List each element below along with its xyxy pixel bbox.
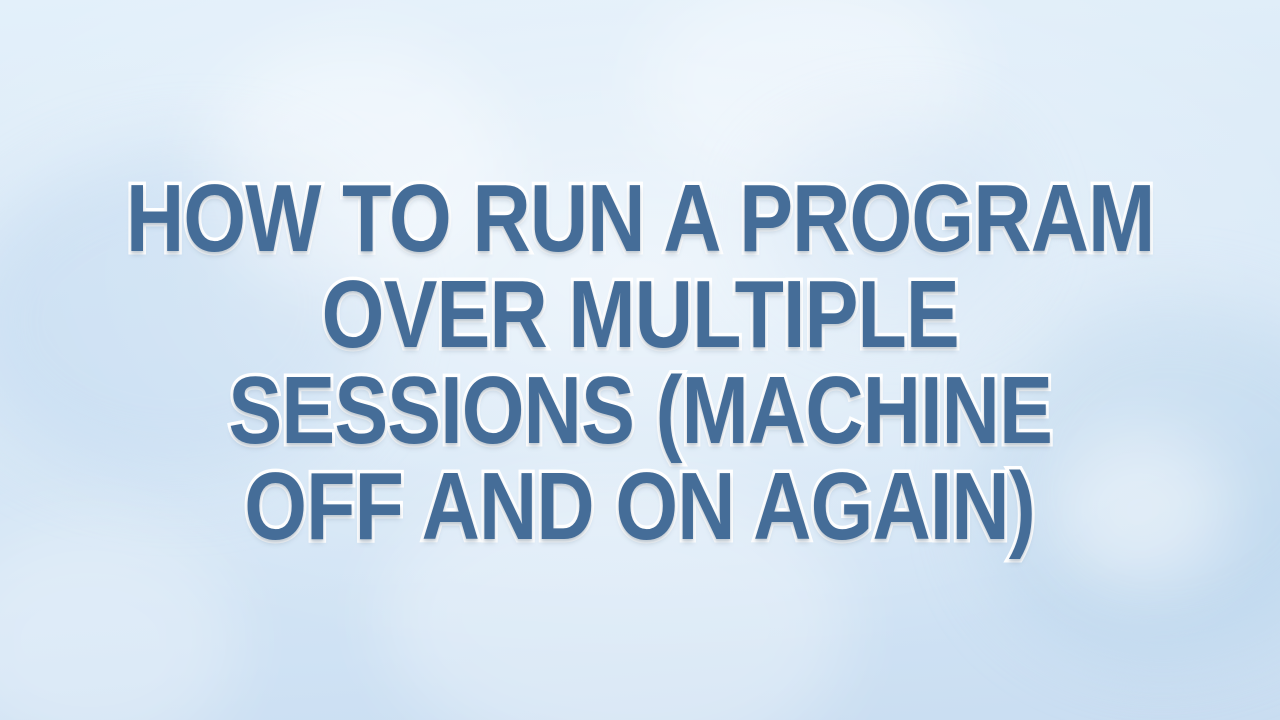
title-line-2: OVER MULTIPLE: [321, 267, 958, 363]
page-title: HOW TO RUN A PROGRAM OVER MULTIPLE SESSI…: [0, 0, 1280, 720]
title-card: HOW TO RUN A PROGRAM OVER MULTIPLE SESSI…: [0, 0, 1280, 720]
title-line-3: SESSIONS (MACHINE: [228, 363, 1052, 459]
title-line-4: OFF AND ON AGAIN): [245, 459, 1036, 555]
title-line-1: HOW TO RUN A PROGRAM: [126, 171, 1154, 267]
